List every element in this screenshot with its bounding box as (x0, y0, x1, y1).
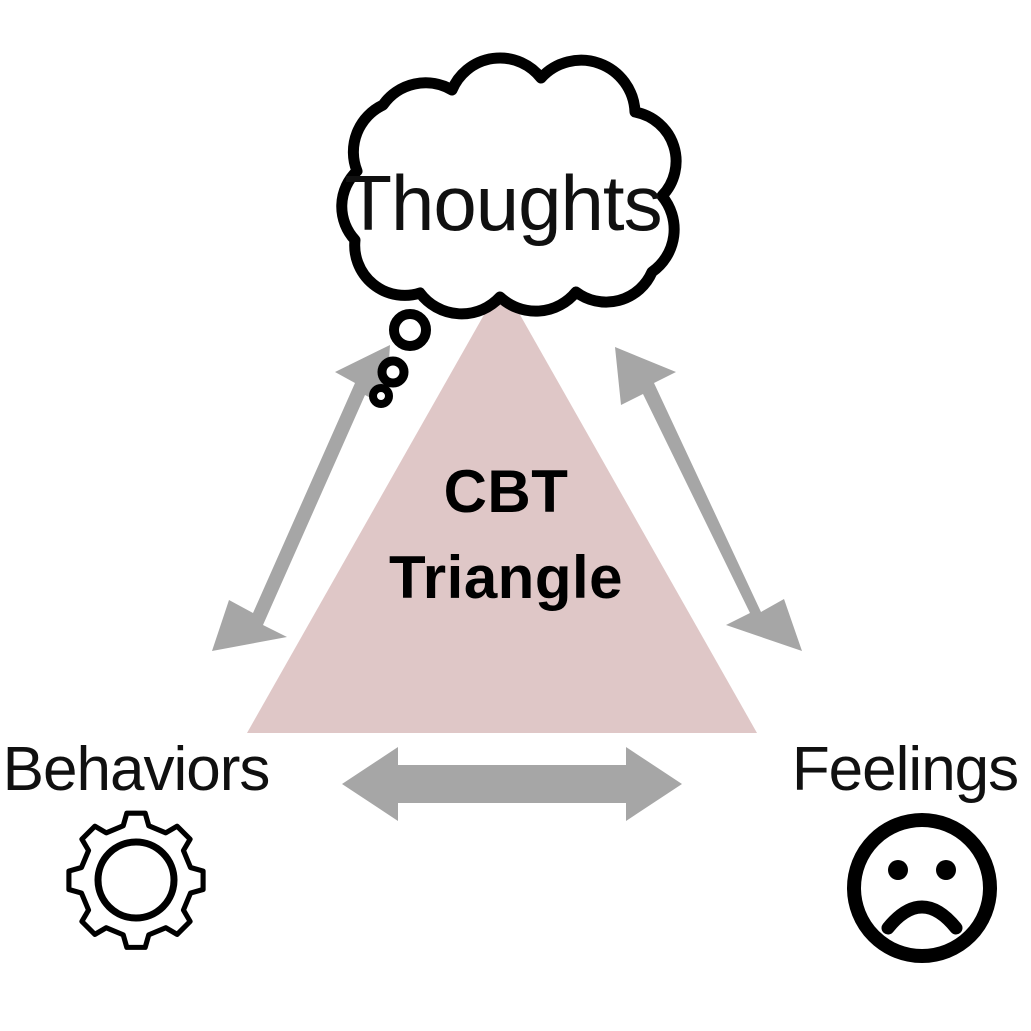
sad-face-eye-left (888, 860, 908, 880)
node-label-thoughts: Thoughts (344, 159, 661, 247)
gear-inner-hole (98, 842, 174, 918)
center-label-line2: Triangle (389, 544, 623, 611)
sad-face-outline (854, 820, 990, 956)
node-label-behaviors: Behaviors (3, 735, 270, 804)
thought-bubble-dot-small (373, 388, 389, 404)
double-arrow-bottom (342, 747, 682, 821)
node-label-feelings: Feelings (792, 735, 1018, 804)
gear-icon (69, 813, 203, 947)
connector-behaviors-feelings (342, 747, 682, 821)
center-label-line1: CBT (444, 458, 569, 525)
thought-bubble-dot-medium (382, 361, 404, 383)
diagram-canvas: Thoughts CBT Triangle Behaviors Feelings (0, 0, 1031, 1031)
sad-face-eye-right (936, 860, 956, 880)
thought-bubble-dot-large (394, 314, 426, 346)
cbt-triangle-diagram: Thoughts CBT Triangle Behaviors Feelings (0, 0, 1031, 1031)
sad-face-icon (854, 820, 990, 956)
